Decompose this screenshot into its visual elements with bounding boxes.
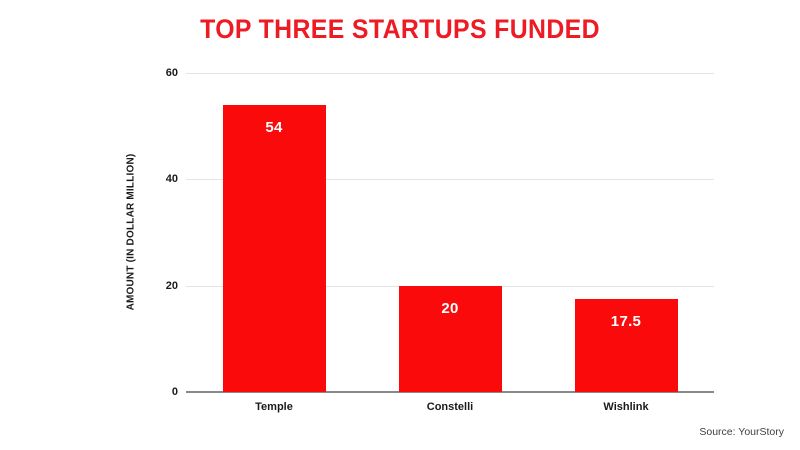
bar-chart: TOP THREE STARTUPS FUNDED AMOUNT (IN DOL… bbox=[0, 0, 800, 450]
y-axis-tick-label: 0 bbox=[172, 386, 178, 398]
bar[interactable]: 17.5 bbox=[575, 299, 678, 392]
gridline bbox=[186, 73, 714, 74]
x-axis-tick-label: Temple bbox=[255, 401, 293, 413]
bar-value-label: 20 bbox=[399, 300, 502, 317]
x-axis-tick-label: Wishlink bbox=[603, 401, 648, 413]
bar-value-label: 54 bbox=[223, 119, 326, 136]
y-axis-title: AMOUNT (IN DOLLAR MILLION) bbox=[126, 154, 137, 311]
y-axis-tick-label: 60 bbox=[166, 67, 178, 79]
x-axis-tick-label: Constelli bbox=[427, 401, 473, 413]
y-axis-tick-label: 40 bbox=[166, 173, 178, 185]
bar[interactable]: 20 bbox=[399, 286, 502, 392]
bar-value-label: 17.5 bbox=[575, 313, 678, 330]
bar[interactable]: 54 bbox=[223, 105, 326, 392]
chart-title: TOP THREE STARTUPS FUNDED bbox=[32, 14, 768, 45]
source-note: Source: YourStory bbox=[699, 426, 784, 438]
plot-area: 0204060 54Temple20Constelli17.5Wishlink bbox=[186, 73, 714, 392]
y-axis-tick-label: 20 bbox=[166, 280, 178, 292]
